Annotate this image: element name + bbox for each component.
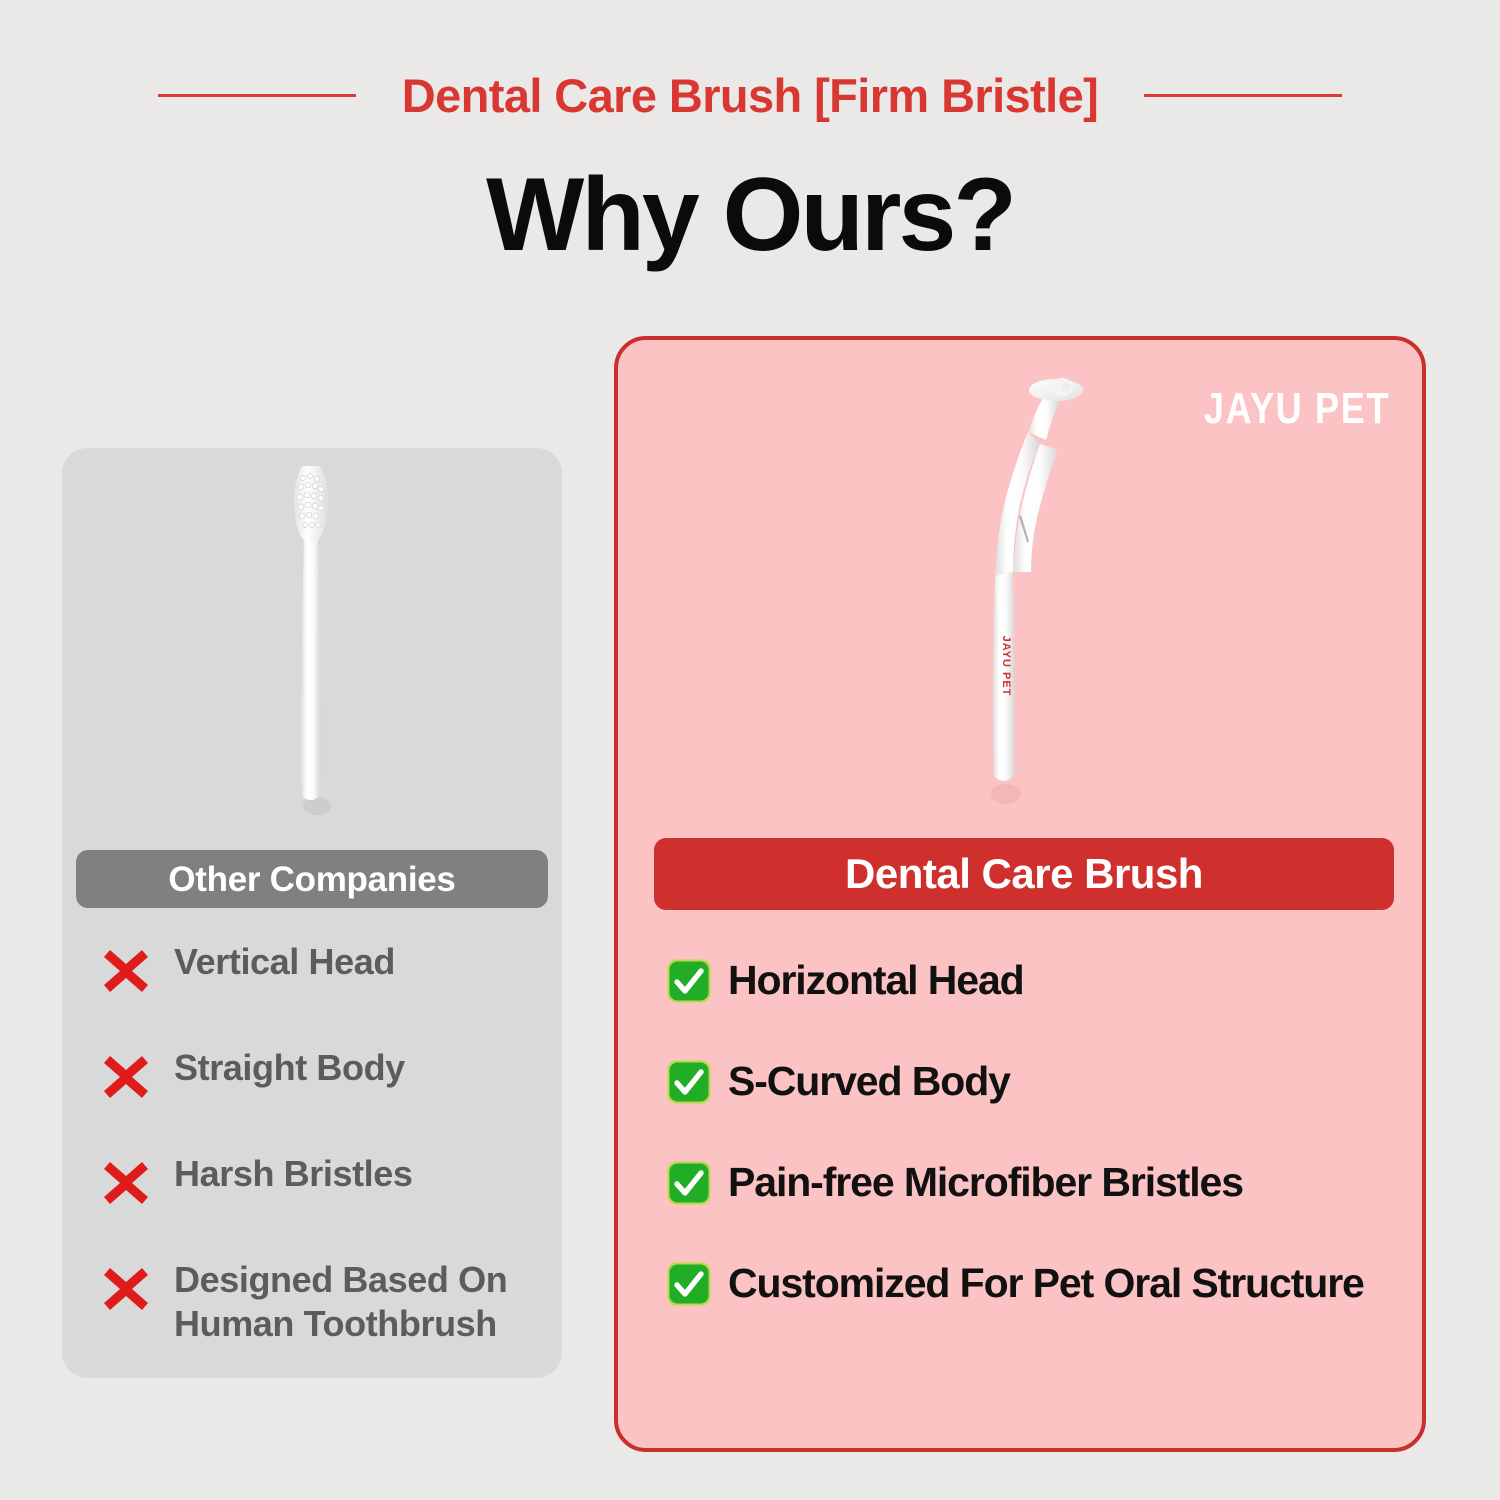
decorative-rule-left xyxy=(158,94,356,97)
list-item-label: S-Curved Body xyxy=(728,1059,1010,1104)
list-item: Vertical Head xyxy=(100,940,550,994)
list-item-label: Vertical Head xyxy=(174,940,395,984)
dental-care-brush-badge: Dental Care Brush xyxy=(654,838,1394,910)
list-item: Pain-free Microfiber Bristles xyxy=(666,1160,1406,1206)
list-item-label: Straight Body xyxy=(174,1046,405,1090)
other-companies-panel: Other Companies Vertical Head Straight B… xyxy=(62,448,562,1378)
page-header: Dental Care Brush [Firm Bristle] Why Our… xyxy=(0,0,1500,320)
page-subtitle: Dental Care Brush [Firm Bristle] xyxy=(402,72,1098,119)
list-item: Straight Body xyxy=(100,1046,550,1100)
red-x-icon xyxy=(100,1154,152,1206)
list-item-label: Customized For Pet Oral Structure xyxy=(728,1261,1364,1306)
green-check-icon xyxy=(666,1059,712,1105)
list-item: Harsh Bristles xyxy=(100,1152,550,1206)
list-item: Customized For Pet Oral Structure xyxy=(666,1261,1406,1307)
red-x-icon xyxy=(100,1048,152,1100)
jayu-pet-product-image: JAYU PET xyxy=(618,366,1422,826)
green-check-icon xyxy=(666,1261,712,1307)
list-item: Horizontal Head xyxy=(666,958,1406,1004)
other-companies-badge: Other Companies xyxy=(76,850,548,908)
subtitle-row: Dental Care Brush [Firm Bristle] xyxy=(0,72,1500,119)
list-item-label: Horizontal Head xyxy=(728,958,1024,1003)
list-item: Designed Based On Human Toothbrush xyxy=(100,1258,550,1346)
other-companies-badge-label: Other Companies xyxy=(168,862,455,897)
green-check-icon xyxy=(666,958,712,1004)
other-companies-feature-list: Vertical Head Straight Body Harsh Bristl… xyxy=(100,940,550,1346)
list-item: S-Curved Body xyxy=(666,1059,1406,1105)
red-x-icon xyxy=(100,1260,152,1312)
other-companies-product-image xyxy=(62,466,562,836)
jayu-pet-feature-list: Horizontal Head S-Curved Body Pain-f xyxy=(666,958,1406,1307)
jayu-pet-panel: JAYU PET xyxy=(614,336,1426,1452)
list-item-label: Designed Based On Human Toothbrush xyxy=(174,1258,507,1346)
red-x-icon xyxy=(100,942,152,994)
page-title: Why Ours? xyxy=(0,158,1500,272)
green-check-icon xyxy=(666,1160,712,1206)
list-item-label: Pain-free Microfiber Bristles xyxy=(728,1160,1243,1205)
handle-brand-text: JAYU PET xyxy=(1000,636,1012,697)
dental-care-brush-badge-label: Dental Care Brush xyxy=(845,853,1203,895)
decorative-rule-right xyxy=(1144,94,1342,97)
list-item-label: Harsh Bristles xyxy=(174,1152,413,1196)
